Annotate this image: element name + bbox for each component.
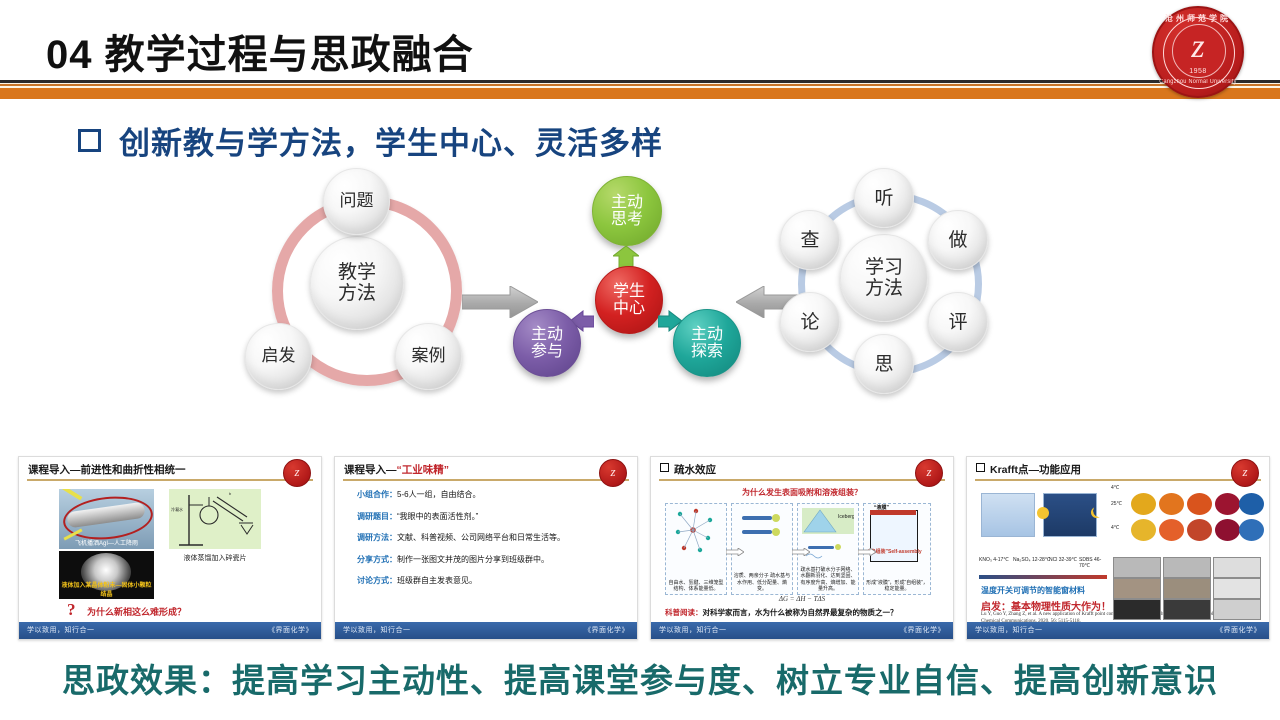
thumb1-crystal-photo: 液体加入某晶体粉末—固体小颗粒结晶 [59,551,154,599]
right-center-label: 学习方法 [865,257,903,298]
thumb1-plane-caption: 飞机播洒AgI—人工降雨 [59,538,154,547]
svg-text:Iceberg: Iceberg [838,514,854,520]
thumb2-line-0-key: 小组合作： [357,490,397,499]
conclusion-line: 思政效果：提高学习主动性、提高课堂参与度、树立专业自信、提高创新意识 [0,654,1280,702]
thumb4-footer-left: 学以致用，知行合一 [975,625,1043,635]
left-node-inspire-label: 启发 [262,347,296,365]
middle-node-active-participation: 主动参与 [513,309,581,377]
thumbnail-slide-4[interactable]: Krafft点—功能应用 z KNO₃ 4-17℃ Na₂SO₄ 12-28℃ … [966,456,1270,640]
right-node-discuss: 论 [780,292,840,352]
thumb4-window-illustration [979,487,1099,567]
thumb4-rule [975,479,1261,481]
thumb4-salt-2: NCl 32-39℃ [1049,557,1077,563]
thumb4-sample-r2c3 [1187,519,1212,541]
slide-root: 04 教学过程与思政融合 沧州师范学院 z 1958 Cangzhou Norm… [0,0,1280,720]
thumb4-sample-r2c4 [1215,519,1240,541]
right-node-search-label: 查 [800,230,819,251]
seal-year: 1958 [1152,68,1244,75]
sun-icon [1037,507,1049,519]
thumb3-panel-row: 自由水、氢键、三维笼型结构、体系能量低。 溶质、两亲分子 疏水基与水作用、低分配… [665,503,941,593]
svg-text:b: b [229,491,232,496]
thumb1-footer-left: 学以致用，知行合一 [27,625,95,635]
left-node-case: 案例 [395,323,462,390]
thumb2-rule [343,479,629,481]
square-bullet-icon [78,129,101,152]
right-node-reflect: 思 [854,334,914,394]
thumb1-seal-icon: z [283,459,311,487]
thumb3-question: 为什么发生表面吸附和溶液组装？ [651,487,953,498]
thumb4-footer: 学以致用，知行合一 《界面化学》 [967,622,1269,639]
right-node-discuss-label: 论 [800,312,819,333]
thumb4-photo-grid [1113,553,1261,615]
thumb4-photo-r1c2 [1163,557,1211,578]
thumb3-reading-line: 科普阅读：对科学家而言，水为什么被称为自然界最复杂的物质之一？ [665,607,898,618]
middle-node-active-thinking: 主动思考 [592,176,662,246]
thumb3-seal-icon: z [915,459,943,487]
thumb3-title: 疏水效应 [660,462,895,477]
middle-node-active-thinking-label: 主动思考 [611,194,643,228]
thumb2-seal-icon: z [599,459,627,487]
thumb2-line-3-value: 制作一张图文并茂的图片分享到班级群中。 [397,555,549,564]
left-center-label: 教学方法 [338,262,376,303]
thumb4-inspire-line: 启发：基本物理性质大作为！ [981,598,1111,613]
header-rule-orange [0,88,1280,99]
right-node-listen-label: 听 [874,188,893,209]
thumb4-photo-r3c3 [1213,599,1261,620]
thumb3-title-text: 疏水效应 [674,464,716,476]
thumb2-line-list: 小组合作：5-6人一组，自由结合。 调研题目：“我眼中的表面活性剂。” 调研方法… [357,489,627,597]
thumb3-footer: 学以致用，知行合一 《界面化学》 [651,622,953,639]
thumb3-arrow-3-icon [858,543,874,551]
thumb2-line-4: 讨论方式：班级群自主发表意见。 [357,575,627,586]
thumb2-line-2-key: 调研方法： [357,533,397,542]
thumb2-line-0: 小组合作：5-6人一组，自由结合。 [357,489,627,500]
thumb4-seal-icon: z [1231,459,1259,487]
thumb2-title-accent: “工业味精” [397,464,450,476]
thumb4-photo-r2c2 [1163,578,1211,599]
arrow-right-icon [462,286,538,318]
thumb2-line-1-key: 调研题目： [357,512,397,521]
thumb4-sample-r1c3 [1187,493,1212,515]
question-mark-icon: ? [67,600,76,620]
right-node-do-label: 做 [948,230,967,251]
thumb4-switch-text: 温度开关可调节的智能窗材料 [981,585,1085,596]
thumb2-line-3-key: 分享方式： [357,555,397,564]
thumb1-distillation-diagram: 冷凝水 b [169,489,261,549]
thumb3-panel-0-caption: 自由水、氢键、三维笼型结构、体系能量低。 [667,580,725,593]
university-seal-logo: 沧州师范学院 z 1958 Cangzhou Normal University [1152,6,1244,98]
thumb2-line-0-value: 5-6人一组，自由结合。 [397,490,481,499]
middle-node-active-exploration: 主动探索 [673,309,741,377]
middle-node-active-participation-label: 主动参与 [531,326,563,360]
thumb4-photo-r3c2 [1163,599,1211,620]
thumb4-window-day [981,493,1035,537]
thumb3-reading-key: 科普阅读： [665,608,703,617]
thumb4-window-night [1043,493,1097,537]
thumb3-box-bullet-icon [660,463,669,472]
thumb3-panel-1-caption: 溶质、两亲分子 疏水基与水作用、低分配量、熵变。 [733,573,791,592]
right-node-reflect-label: 思 [874,354,893,375]
methods-diagram: 教学方法 问题 案例 启发 主动思考 [0,168,1280,438]
right-node-evaluate: 评 [928,292,988,352]
thumb2-line-1: 调研题目：“我眼中的表面活性剂。” [357,511,627,522]
thumb4-sample-r1c4 [1215,493,1240,515]
left-node-question: 问题 [323,168,390,235]
middle-node-active-exploration-label: 主动探索 [691,326,723,360]
thumb3-panel-2-caption: 疏水基打破水分子网络、水翻新羽化、达到坚固、有序度升高、熵增加、能量升高。 [799,567,857,592]
thumb1-red-oval-highlight [61,492,154,543]
thumb1-crystal-caption: 液体加入某晶体粉末—固体小颗粒结晶 [59,580,154,598]
thumbnail-slide-3[interactable]: 疏水效应 z 为什么发生表面吸附和溶液组装？ [650,456,954,640]
thumb4-photo-r3c1 [1113,599,1161,620]
thumbnail-slide-1[interactable]: 课程导入—前进性和曲折性相统一 z 飞机播洒AgI—人工降雨 液体加入某晶体粉末… [18,456,322,640]
thumb4-color-sample-grid: 4℃ 25℃ 4℃ [1113,485,1261,547]
middle-center-student-center: 学生中心 [595,266,663,334]
seal-arc-top-text: 沧州师范学院 [1152,13,1244,24]
thumb2-line-2: 调研方法：文献、科普视频、公司网络平台和日常生活等。 [357,532,627,543]
thumb4-temp-0: 4℃ [1111,485,1119,491]
moon-icon [1091,507,1102,518]
right-cluster-center-node: 学习方法 [840,234,928,322]
thumb4-sample-r1c1 [1131,493,1156,515]
thumb4-title: Krafft点—功能应用 [976,462,1211,477]
subheading: 创新教与学方法，学生中心、灵活多样 [78,118,663,163]
left-cluster-center-node: 教学方法 [310,236,404,330]
thumb1-title: 课程导入—前进性和曲折性相统一 [28,462,263,477]
left-node-inspire: 启发 [245,323,312,390]
right-node-do: 做 [928,210,988,270]
thumb2-footer-right: 《界面化学》 [584,625,629,635]
thumbnail-strip: 课程导入—前进性和曲折性相统一 z 飞机播洒AgI—人工降雨 液体加入某晶体粉末… [0,456,1280,642]
thumb2-footer-left: 学以致用，知行合一 [343,625,411,635]
header-rule-orange-thin [0,84,1280,86]
thumb3-arrow-2-icon [792,543,808,551]
thumb4-photo-r2c3 [1213,578,1261,599]
thumb2-footer: 学以致用，知行合一 《界面化学》 [335,622,637,639]
left-node-case-label: 案例 [412,347,446,365]
thumb4-photo-r2c1 [1113,578,1161,599]
thumb3-footer-right: 《界面化学》 [900,625,945,635]
thumb3-reading-value: 对科学家而言，水为什么被称为自然界最复杂的物质之一？ [703,608,898,617]
left-node-question-label: 问题 [340,192,374,210]
page-title: 04 教学过程与思政融合 [46,22,474,80]
right-node-evaluate-label: 评 [948,312,967,333]
right-node-search: 查 [780,210,840,270]
thumb3-iceberg-area: Iceberg [802,508,854,534]
thumb4-salt-1: Na₂SO₄ 12-28℃ [1013,557,1050,563]
thumb4-temperature-scale [979,575,1107,579]
thumb1-plane-photo: 飞机播洒AgI—人工降雨 [59,489,154,549]
thumb3-film-label: “液膜” [874,504,889,511]
thumb2-line-3: 分享方式：制作一张图文并茂的图片分享到班级群中。 [357,554,627,565]
thumb4-salt-labels: KNO₃ 4-17℃ Na₂SO₄ 12-28℃ NCl 32-39℃ SDBS… [979,557,1109,573]
thumb4-title-text: Krafft点—功能应用 [990,464,1081,476]
thumb2-line-2-value: 文献、科普视频、公司网络平台和日常生活等。 [397,533,565,542]
thumb4-salt-3: SDBS 46-70℃ [1079,557,1109,569]
thumb4-temp-1: 25℃ [1111,501,1122,507]
subheading-text: 创新教与学方法，学生中心、灵活多样 [119,118,663,163]
right-node-listen: 听 [854,168,914,228]
thumb4-footer-right: 《界面化学》 [1216,625,1261,635]
thumb1-ray-icon [62,489,83,501]
thumb3-footer-left: 学以致用，知行合一 [659,625,727,635]
thumb1-footer-right: 《界面化学》 [268,625,313,635]
thumb3-arrow-1-icon [726,543,742,551]
thumb1-footer: 学以致用，知行合一 《界面化学》 [19,622,321,639]
thumb4-box-bullet-icon [976,463,985,472]
thumb3-assembly-label: “自组装”Self-assembly [868,548,922,555]
thumb4-temp-2: 4℃ [1111,525,1119,531]
thumb1-question-text: 为什么新相这么难形成？ [87,605,186,618]
thumb2-line-4-value: 班级群自主发表意见。 [397,576,477,585]
thumb2-title: 课程导入—“工业味精” [344,462,579,477]
thumb4-photo-r1c1 [1113,557,1161,578]
thumb3-rule [659,479,945,481]
thumb2-line-1-value: “我眼中的表面活性剂。” [397,512,478,521]
thumb2-title-plain: 课程导入— [344,464,397,476]
middle-center-label: 学生中心 [613,283,645,317]
arrow-up-small-icon [613,246,639,268]
thumb3-equation: ΔG = ΔH − TΔS [651,595,953,603]
thumb4-sample-r2c2 [1159,519,1184,541]
thumb2-line-4-key: 讨论方式： [357,576,397,585]
thumb1-rule [27,479,313,481]
thumb4-photo-r1c3 [1213,557,1261,578]
thumb1-distillation-caption: 液体蒸馏加入碎瓷片 [165,553,265,563]
thumb4-sample-r1c5 [1239,493,1264,515]
thumb4-sample-r1c2 [1159,493,1184,515]
thumbnail-slide-2[interactable]: 课程导入—“工业味精” z 小组合作：5-6人一组，自由结合。 调研题目：“我眼… [334,456,638,640]
thumb3-panel-3-caption: 形成“液膜”，形成“自组装”，稳定能量。 [865,580,929,593]
seal-arc-bottom-text: Cangzhou Normal University [1156,79,1241,85]
thumb4-salt-0: KNO₃ 4-17℃ [979,557,1009,563]
seal-monogram-icon: z [1152,30,1244,64]
svg-text:冷凝水: 冷凝水 [171,506,183,512]
thumb3-panel-0: 自由水、氢键、三维笼型结构、体系能量低。 [665,503,727,595]
thumb4-sample-r2c5 [1239,519,1264,541]
thumb4-sample-r2c1 [1131,519,1156,541]
